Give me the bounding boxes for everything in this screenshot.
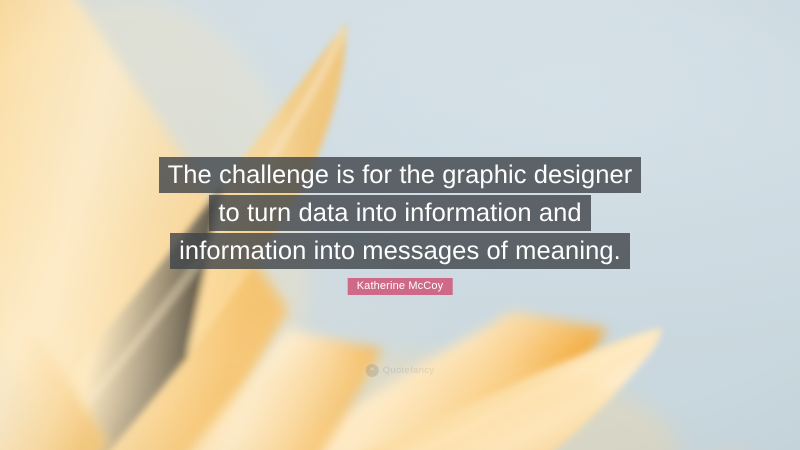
quote-line-2: to turn data into information and xyxy=(209,195,590,231)
quote-line-1: The challenge is for the graphic designe… xyxy=(159,157,642,193)
quote-text-block: The challenge is for the graphic designe… xyxy=(0,157,800,269)
quote-image-card: The challenge is for the graphic designe… xyxy=(0,0,800,450)
quote-line-3: information into messages of meaning. xyxy=(170,233,630,269)
author-badge: Katherine McCoy xyxy=(348,278,453,295)
